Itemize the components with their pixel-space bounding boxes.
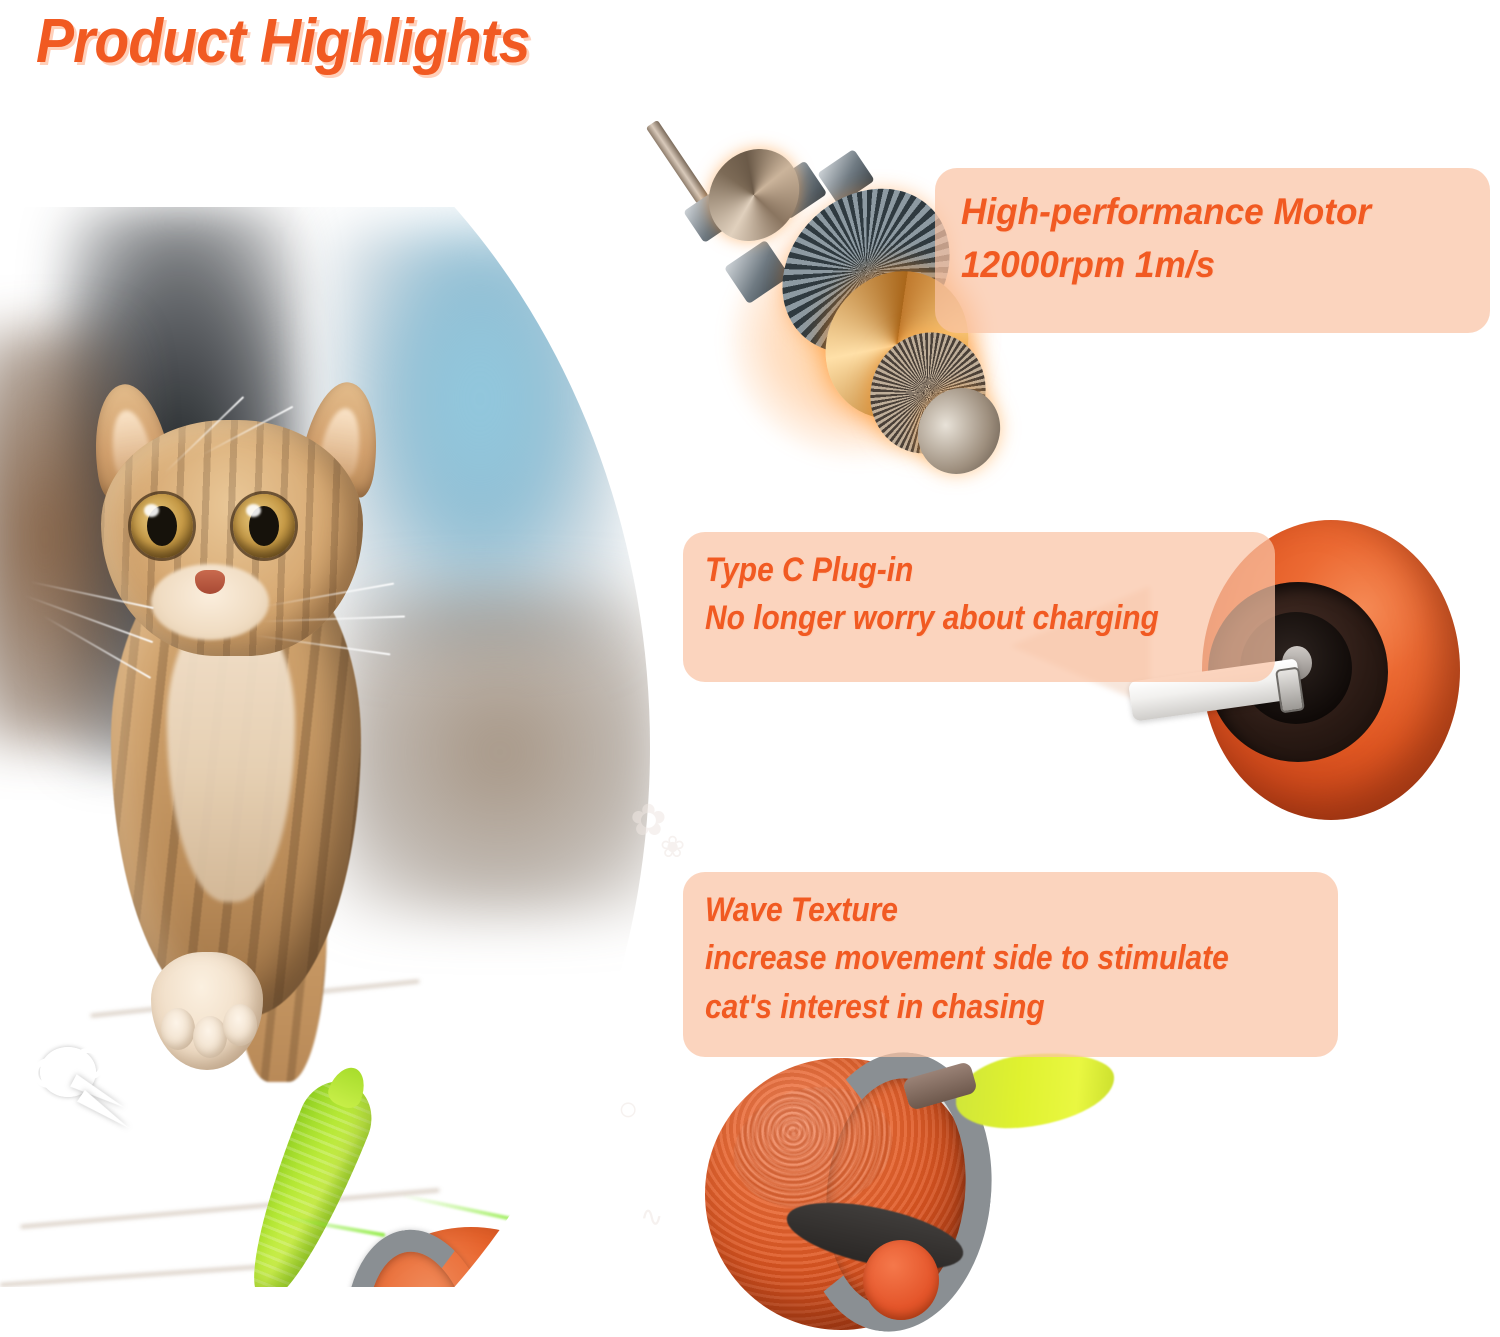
wave-feature-desc-1: increase movement side to stimulate (705, 934, 1243, 982)
cat-toe (161, 1008, 195, 1050)
decorative-watermark: ❀ (660, 830, 685, 865)
wave-feature-desc-2: cat's interest in chasing (705, 983, 1243, 1031)
cat-toe (223, 1004, 257, 1046)
type-c-feature-desc: No longer worry about charging (705, 594, 1187, 642)
decorative-watermark: ∿ (640, 1200, 663, 1233)
type-c-feature-title: Type C Plug-in (705, 546, 1187, 594)
motor-shaft (646, 120, 709, 204)
decorative-watermark: ○ (618, 1090, 639, 1129)
feature-panel-type-c: Type C Plug-in No longer worry about cha… (683, 532, 1275, 682)
cat-eye-glint (246, 504, 261, 517)
cat-chasing-ball-photo (0, 207, 700, 1287)
page-title: Product Highlights (36, 6, 530, 77)
cat-eye-left (131, 494, 193, 558)
feature-panel-wave-texture: Wave Texture increase movement side to s… (683, 872, 1338, 1057)
wave-feature-title: Wave Texture (705, 886, 1243, 934)
wave-texture-ball-image (705, 1040, 1125, 1337)
cat-figure (55, 302, 455, 1062)
motor-feature-title: High-performance Motor (961, 186, 1439, 239)
cat-eye-right (233, 494, 295, 558)
product-highlights-page: Product Highlights (0, 0, 1500, 1337)
feature-panel-motor: High-performance Motor 12000rpm 1m/s (935, 168, 1490, 333)
wave-ball-power-button (863, 1240, 939, 1320)
cat-eye-glint (144, 504, 159, 517)
motor-feature-spec: 12000rpm 1m/s (961, 239, 1439, 292)
toy-feather-attachment (952, 1046, 1119, 1134)
cat-toe (193, 1016, 227, 1058)
